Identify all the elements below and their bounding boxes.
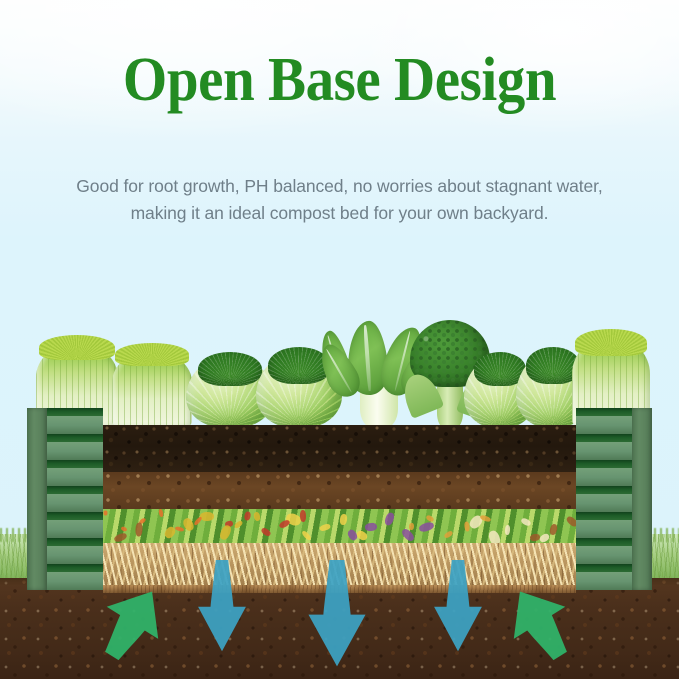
plant-napa-cabbage bbox=[112, 352, 192, 428]
compost-scrap bbox=[520, 517, 532, 527]
compost-scrap bbox=[400, 527, 415, 543]
compost-scrap bbox=[200, 512, 214, 521]
bed-panel-groove bbox=[576, 512, 632, 520]
napa-frill bbox=[115, 343, 189, 366]
compost-scrap bbox=[120, 526, 127, 532]
bed-panel-face bbox=[576, 520, 632, 538]
promo-banner: Open Base Design Good for root growth, P… bbox=[0, 0, 679, 679]
bed-panel-rib bbox=[47, 460, 103, 486]
napa-frill bbox=[575, 329, 647, 356]
compost-scrap bbox=[409, 523, 415, 530]
bed-panel-rib bbox=[47, 486, 103, 512]
layer-topsoil bbox=[103, 425, 576, 472]
bed-panel-groove bbox=[47, 512, 103, 520]
bed-panel-groove bbox=[47, 434, 103, 442]
bed-panel-face bbox=[47, 494, 103, 512]
bed-panel-rib bbox=[576, 460, 632, 486]
napa-frill bbox=[39, 335, 114, 360]
compost-scrap bbox=[443, 530, 453, 539]
compost-scrap bbox=[104, 511, 108, 516]
page-title: Open Base Design bbox=[27, 48, 652, 112]
bed-panel-groove bbox=[47, 486, 103, 494]
bed-panel-groove bbox=[47, 408, 103, 416]
bed-panel-groove bbox=[47, 460, 103, 468]
compost-scrap bbox=[113, 532, 128, 544]
bed-panel-face bbox=[576, 468, 632, 486]
airflow-drainage-arrows bbox=[0, 560, 679, 679]
bed-panel-groove bbox=[47, 538, 103, 546]
compost-scrap bbox=[505, 525, 511, 535]
drainage-arrow-down-left bbox=[196, 560, 248, 656]
compost-scrap bbox=[175, 526, 185, 532]
cabbage-outer-leaf bbox=[268, 347, 330, 383]
bed-panel-rib bbox=[47, 408, 103, 434]
bed-panel-rib bbox=[576, 512, 632, 538]
compost-scrap bbox=[384, 512, 396, 527]
subtitle-line-1: Good for root growth, PH balanced, no wo… bbox=[24, 173, 655, 200]
compost-scrap bbox=[135, 522, 143, 536]
compost-scrap bbox=[260, 527, 272, 538]
bed-panel-groove bbox=[576, 486, 632, 494]
compost-scrap bbox=[301, 530, 312, 541]
airflow-arrow-up-left bbox=[84, 571, 182, 674]
bed-panel-face bbox=[47, 416, 103, 434]
layer-kitchen-scraps bbox=[103, 509, 576, 543]
bed-panel-groove bbox=[576, 538, 632, 546]
drainage-arrow-down-center bbox=[306, 560, 368, 672]
bed-panel-face bbox=[576, 442, 632, 460]
compost-scrap bbox=[244, 511, 251, 521]
compost-scrap bbox=[300, 510, 306, 522]
bed-panel-rib bbox=[47, 512, 103, 538]
subtitle-line-2: making it an ideal compost bed for your … bbox=[24, 200, 655, 227]
compost-scrap bbox=[549, 523, 559, 535]
compost-scrap bbox=[158, 509, 164, 518]
compost-scrap bbox=[339, 514, 348, 526]
compost-scrap bbox=[418, 521, 435, 533]
bed-panel-groove bbox=[576, 408, 632, 416]
compost-scrap bbox=[253, 511, 261, 521]
bed-panel-groove bbox=[576, 434, 632, 442]
bed-panel-rib bbox=[576, 408, 632, 434]
compost-scrap bbox=[319, 523, 331, 532]
bed-panel-face bbox=[576, 494, 632, 512]
bed-panel-face bbox=[47, 520, 103, 538]
layer-compost bbox=[103, 472, 576, 509]
bed-panel-rib bbox=[576, 434, 632, 460]
bed-panel-face bbox=[47, 468, 103, 486]
bed-panel-face bbox=[576, 416, 632, 434]
compost-scrap bbox=[355, 529, 369, 542]
compost-scrap bbox=[233, 520, 243, 530]
compost-scrap bbox=[365, 522, 378, 531]
bed-panel-face bbox=[47, 442, 103, 460]
bed-panel-groove bbox=[576, 460, 632, 468]
compost-scrap bbox=[565, 515, 576, 528]
drainage-arrow-down-right bbox=[432, 560, 484, 656]
compost-scrap bbox=[193, 516, 202, 526]
compost-scrap bbox=[278, 519, 291, 529]
page-subtitle: Good for root growth, PH balanced, no wo… bbox=[0, 173, 679, 227]
airflow-arrow-up-right bbox=[490, 571, 588, 674]
bed-panel-rib bbox=[47, 434, 103, 460]
cabbage-outer-leaf bbox=[198, 352, 261, 387]
bed-panel-rib bbox=[576, 486, 632, 512]
compost-scrap bbox=[538, 532, 550, 543]
compost-scrap bbox=[218, 524, 232, 541]
